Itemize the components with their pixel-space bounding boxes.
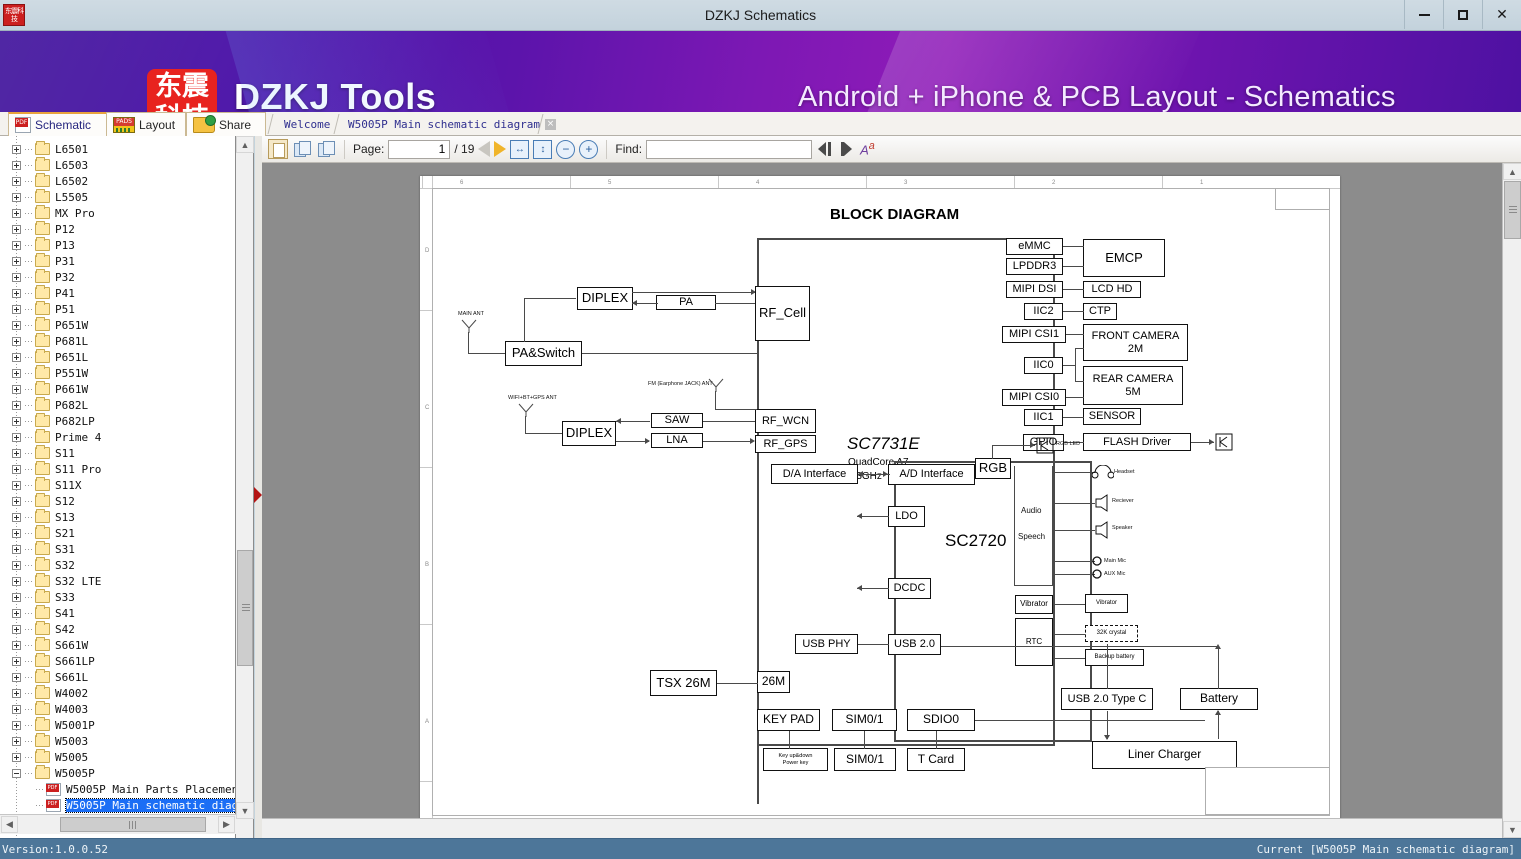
da-interface-block: D/A Interface [771, 464, 858, 484]
rgb-block: RGB [975, 458, 1011, 479]
emcp-block: EMCP [1083, 239, 1165, 277]
find-next-icon[interactable] [838, 141, 856, 157]
copy-selection-icon[interactable] [316, 139, 336, 159]
iic2-port-block: IIC2 [1024, 303, 1063, 320]
tree-connector [25, 677, 33, 678]
front-camera-block: FRONT CAMERA 2M [1083, 324, 1188, 361]
arrow-left-icon [632, 300, 637, 306]
close-icon: ✕ [1496, 6, 1508, 23]
expand-icon[interactable] [12, 289, 21, 298]
wire-usb-typec [1107, 644, 1108, 689]
previous-page-icon[interactable] [478, 141, 490, 157]
scroll-down-icon-2[interactable]: ▼ [1503, 821, 1521, 838]
tree-connector [25, 597, 33, 598]
main-antenna-icon [460, 319, 480, 333]
tree-item-label: P651W [55, 319, 88, 332]
tree-item-s32-lte[interactable]: S32 LTE [0, 573, 235, 589]
tree-connector [25, 741, 33, 742]
diplex-soc-wire [632, 292, 757, 293]
maximize-button[interactable] [1443, 0, 1482, 29]
clock-26m-block: 26M [757, 671, 790, 693]
zoom-out-icon[interactable]: − [556, 140, 575, 159]
application-window: 东震科技 DZKJ Schematics ✕ 东震科技 DZKJ Tools A… [0, 0, 1521, 859]
pdf-icon [15, 117, 31, 133]
expand-icon[interactable] [12, 513, 21, 522]
rf-wcn-block: RF_WCN [755, 409, 816, 433]
folder-icon [35, 495, 50, 507]
tree-item-s661l[interactable]: S661L [0, 669, 235, 685]
tree-item-label: Prime 4 [55, 431, 101, 444]
folder-icon [35, 191, 50, 203]
expand-icon[interactable] [12, 353, 21, 362]
expand-icon[interactable] [12, 465, 21, 474]
folder-icon [35, 607, 50, 619]
antenna-label-fm: FM (Earphone JACK) ANT [648, 381, 713, 387]
tree-item-label: P13 [55, 239, 75, 252]
expand-icon[interactable] [12, 673, 21, 682]
tree-item-p12[interactable]: P12 [0, 221, 235, 237]
expand-icon[interactable] [12, 577, 21, 586]
folder-icon [35, 207, 50, 219]
folder-icon [35, 351, 50, 363]
tree-item-l6503[interactable]: L6503 [0, 157, 235, 173]
tree-connector [25, 757, 33, 758]
tree-item-w5005p-main-parts-placement[interactable]: W5005P Main Parts Placement [0, 781, 235, 797]
tree-item-label: MX Pro [55, 207, 95, 220]
ctp-block: CTP [1083, 303, 1117, 320]
window-title: DZKJ Schematics [0, 0, 1521, 31]
receiver-label: Reciever [1112, 498, 1134, 504]
tree-item-label: P41 [55, 287, 75, 300]
wire-emmc [1063, 246, 1084, 247]
wire-backup-battery [1053, 658, 1087, 659]
tree-item-p41[interactable]: P41 [0, 285, 235, 301]
folder-icon [35, 383, 50, 395]
tree-item-p682lp[interactable]: P682LP [0, 413, 235, 429]
wire-tsx [717, 683, 758, 684]
tree-connector [25, 693, 33, 694]
expand-icon[interactable] [12, 481, 21, 490]
expand-icon[interactable] [12, 497, 21, 506]
tree-item-p681l[interactable]: P681L [0, 333, 235, 349]
tab-welcome[interactable]: Welcome [278, 112, 336, 136]
ldo-block: LDO [888, 506, 925, 527]
expand-icon[interactable] [12, 449, 21, 458]
expand-icon[interactable] [12, 209, 21, 218]
tree-item-l6502[interactable]: L6502 [0, 173, 235, 189]
fit-width-icon[interactable]: ↔ [510, 140, 529, 159]
tab-document-w5005p[interactable]: W5005P Main schematic diagram × [342, 112, 562, 136]
folder-icon [35, 703, 50, 715]
next-page-icon[interactable] [494, 141, 506, 157]
flash-led-icon [1215, 433, 1233, 451]
window-controls: ✕ [1404, 0, 1521, 29]
tree-item-label: W4002 [55, 687, 88, 700]
tree-item-label: W5005 [55, 751, 88, 764]
tree-connector [25, 581, 33, 582]
rgb-led-icon [1036, 437, 1054, 454]
tree-connector [25, 341, 33, 342]
tree-connector [36, 789, 44, 790]
iic0-port-block: IIC0 [1024, 357, 1063, 374]
tree-item-s11-pro[interactable]: S11 Pro [0, 461, 235, 477]
ant-wifi-wire [525, 433, 563, 434]
tree-item-p32[interactable]: P32 [0, 269, 235, 285]
tree-item-w5005p[interactable]: W5005P [0, 765, 235, 781]
tree-item-w5005p-main-schematic-diagram[interactable]: W5005P Main schematic diagram [0, 797, 235, 813]
folder-icon [35, 319, 50, 331]
block-diagram: BLOCK DIAGRAM SC7731E QuadCore A7 1.3GHz… [420, 176, 1340, 826]
tree-item-label: P651L [55, 351, 88, 364]
tree-item-label: W5005P [55, 767, 95, 780]
tree-item-s32[interactable]: S32 [0, 557, 235, 573]
toolbar-divider [344, 140, 345, 159]
find-input[interactable] [646, 140, 812, 159]
expand-icon[interactable] [12, 545, 21, 554]
tree-item-label: P31 [55, 255, 75, 268]
tree-connector [36, 805, 44, 806]
usb20-block: USB 2.0 [888, 634, 941, 655]
expand-icon[interactable] [12, 257, 21, 266]
sdio0-block: SDIO0 [907, 709, 975, 731]
close-button[interactable]: ✕ [1482, 0, 1521, 29]
tree-item-label: S32 LTE [55, 575, 101, 588]
tree-item-prime-4[interactable]: Prime 4 [0, 429, 235, 445]
expand-icon[interactable] [12, 385, 21, 394]
brand-subtitle: Android + iPhone & PCB Layout - Schemati… [798, 81, 1396, 112]
expand-icon[interactable] [12, 193, 21, 202]
share-icon [193, 117, 215, 133]
scroll-right-icon[interactable]: ▶ [218, 816, 235, 833]
tree-item-label: P51 [55, 303, 75, 316]
front-camera-sub: 2M [1128, 343, 1143, 355]
folder-icon [35, 559, 50, 571]
expand-icon[interactable] [12, 609, 21, 618]
page-number-input[interactable] [388, 140, 450, 159]
saw-block: SAW [651, 413, 703, 428]
tree-item-label: P682LP [55, 415, 95, 428]
tree-connector [25, 485, 33, 486]
ant-fm-wire [715, 409, 757, 410]
expand-icon[interactable] [12, 561, 21, 570]
tree-connector [25, 261, 33, 262]
expand-icon[interactable] [12, 753, 21, 762]
tree-item-label: L6501 [55, 143, 88, 156]
tab-schematic[interactable]: Schematic [8, 112, 113, 136]
tree-item-s11x[interactable]: S11X [0, 477, 235, 493]
folder-icon [35, 639, 50, 651]
viewer-scroll-thumb[interactable] [1504, 181, 1521, 239]
tab-share[interactable]: Share [186, 112, 266, 136]
tree-item-s11[interactable]: S11 [0, 445, 235, 461]
tree-item-label: W4003 [55, 703, 88, 716]
saw-soc-wire [703, 421, 757, 422]
pads-icon [113, 117, 135, 133]
tab-schematic-label: Schematic [35, 118, 91, 132]
ant-wifi-drop [525, 416, 526, 434]
tree-item-l5505[interactable]: L5505 [0, 189, 235, 205]
maximize-icon [1458, 10, 1468, 20]
tree-item-label: L6502 [55, 175, 88, 188]
expand-icon[interactable] [12, 369, 21, 378]
expand-icon[interactable] [12, 161, 21, 170]
tree-connector [25, 213, 33, 214]
tree-horizontal-scrollbar[interactable]: ◀ ▶ [0, 814, 236, 834]
expand-icon[interactable] [12, 689, 21, 698]
wire-rgb-up [992, 445, 993, 459]
tree-item-label: S21 [55, 527, 75, 540]
scroll-down-icon[interactable]: ▼ [236, 802, 254, 819]
scroll-up-icon[interactable]: ▲ [236, 136, 254, 153]
folder-icon [35, 415, 50, 427]
find-label: Find: [615, 142, 642, 156]
close-icon[interactable]: × [545, 119, 556, 130]
find-previous-icon[interactable] [816, 141, 834, 157]
wire-speaker [1053, 530, 1095, 531]
wire-iic2 [1063, 311, 1084, 312]
tree-hscroll-thumb[interactable] [60, 817, 206, 832]
tree-item-w4003[interactable]: W4003 [0, 701, 235, 717]
expand-icon[interactable] [12, 417, 21, 426]
saw-diplex-wire [616, 421, 650, 422]
wire-csi0 [1066, 397, 1084, 398]
expand-icon[interactable] [12, 177, 21, 186]
tree-item-s41[interactable]: S41 [0, 605, 235, 621]
tree-connector [25, 357, 33, 358]
tree-connector [25, 453, 33, 454]
folder-icon [35, 575, 50, 587]
tree-item-s21[interactable]: S21 [0, 525, 235, 541]
tree-connector [25, 645, 33, 646]
document-icon[interactable] [268, 139, 288, 159]
expand-icon[interactable] [12, 529, 21, 538]
wire-iic0-down [1075, 381, 1084, 382]
folder-icon [35, 751, 50, 763]
collapse-icon[interactable] [12, 769, 21, 778]
tree-vertical-scrollbar[interactable]: ▲ ▼ [236, 136, 254, 838]
antenna-label-main: MAIN ANT [458, 311, 484, 317]
tree-connector [25, 613, 33, 614]
expand-icon[interactable] [12, 305, 21, 314]
arrow-right-icon-6 [1030, 442, 1035, 448]
tree-item-label: S42 [55, 623, 75, 636]
headset-label: Headset [1114, 469, 1135, 475]
rf-cell-block: RF_Cell [755, 286, 810, 341]
folder-icon [35, 175, 50, 187]
wire-dsi [1063, 289, 1084, 290]
antenna-label-wifi: WIFI+BT+GPS ANT [508, 395, 557, 401]
tree-item-label: W5005P Main schematic diagram [66, 799, 236, 812]
tree-item-w5001p[interactable]: W5001P [0, 717, 235, 733]
ant-main-drop [468, 332, 469, 354]
pdf-file-icon [46, 799, 61, 812]
tree-item-p682l[interactable]: P682L [0, 397, 235, 413]
tree-item-w5003[interactable]: W5003 [0, 733, 235, 749]
wire-keypad [789, 731, 790, 749]
tree-connector [25, 293, 33, 294]
wire-iic0-bus [1075, 348, 1076, 382]
expand-icon[interactable] [12, 737, 21, 746]
expand-icon[interactable] [12, 641, 21, 650]
tree-connector [25, 405, 33, 406]
expand-icon[interactable] [12, 273, 21, 282]
speaker-label: Speaker [1112, 525, 1133, 531]
lcd-hd-block: LCD HD [1083, 281, 1141, 298]
tree-scroll-thumb[interactable] [237, 550, 253, 666]
tree-connector [25, 709, 33, 710]
brand-title: DZKJ Tools [234, 76, 436, 112]
title-bar: 东震科技 DZKJ Schematics ✕ [0, 0, 1521, 31]
tab-share-label: Share [219, 118, 251, 132]
tree-item-s42[interactable]: S42 [0, 621, 235, 637]
tree-item-label: S11X [55, 479, 82, 492]
pa-switch-up-wire [524, 298, 525, 342]
pa-switch-block: PA&Switch [505, 341, 582, 366]
tree-item-s31[interactable]: S31 [0, 541, 235, 557]
folder-icon [35, 591, 50, 603]
liner-charger-block: Liner Charger [1092, 741, 1237, 769]
expand-icon[interactable] [12, 625, 21, 634]
rtc-block: RTC [1015, 618, 1053, 666]
tree-item-p13[interactable]: P13 [0, 237, 235, 253]
folder-icon [35, 399, 50, 411]
battery-block: Battery [1180, 688, 1258, 710]
wire-crystal [1053, 634, 1087, 635]
wire-usb20-bus [941, 646, 1219, 647]
tree-item-label: S32 [55, 559, 75, 572]
aux-mic-icon [1092, 569, 1102, 579]
pa-switch-to-diplex [524, 298, 576, 299]
tree-connector [25, 421, 33, 422]
rear-camera-label: REAR CAMERA [1093, 373, 1174, 385]
expand-icon[interactable] [12, 721, 21, 730]
tree-item-p651w[interactable]: P651W [0, 317, 235, 333]
schematic-tree[interactable]: L6501L6503L6502L5505MX ProP12P13P31P32P4… [0, 136, 236, 838]
expand-icon[interactable] [12, 593, 21, 602]
wire-rgb-led [992, 445, 1035, 446]
tree-connector [25, 661, 33, 662]
audio-col-left [1014, 466, 1015, 586]
tree-item-label: P32 [55, 271, 75, 284]
folder-icon [35, 287, 50, 299]
fit-page-icon[interactable]: ↕ [533, 140, 552, 159]
tree-item-label: L6503 [55, 159, 88, 172]
tree-item-p551w[interactable]: P551W [0, 365, 235, 381]
tree-item-s33[interactable]: S33 [0, 589, 235, 605]
tree-item-l6501[interactable]: L6501 [0, 141, 235, 157]
expand-icon[interactable] [12, 241, 21, 250]
wire-iic1 [1063, 417, 1084, 418]
tree-item-label: P681L [55, 335, 88, 348]
expand-icon[interactable] [12, 657, 21, 666]
tree-connector [25, 517, 33, 518]
lpddr3-port-block: LPDDR3 [1006, 258, 1063, 275]
tree-item-w5005[interactable]: W5005 [0, 749, 235, 765]
expand-icon[interactable] [12, 321, 21, 330]
copy-page-icon[interactable] [292, 139, 312, 159]
backup-battery-block: Backup battery [1085, 649, 1144, 666]
tree-item-p651l[interactable]: P651L [0, 349, 235, 365]
tree-item-p31[interactable]: P31 [0, 253, 235, 269]
lna-block: LNA [651, 433, 703, 448]
tree-item-s661w[interactable]: S661W [0, 637, 235, 653]
tab-strip: Schematic Layout Share Welcome W5005P Ma… [0, 112, 1521, 136]
tree-item-p661w[interactable]: P661W [0, 381, 235, 397]
sim-port-block: SIM0/1 [832, 709, 897, 731]
pdf-toolbar: Page: / 19 ↔ ↕ − + Find: Aa [262, 136, 1521, 163]
tree-connector [25, 373, 33, 374]
pdf-viewer[interactable]: 654321 DCBA BLOCK DIAGRAM SC7731E QuadCo… [262, 163, 1502, 838]
highlight-all-icon[interactable]: Aa [860, 140, 875, 157]
expand-icon[interactable] [12, 401, 21, 410]
scroll-up-icon-2[interactable]: ▲ [1503, 163, 1521, 180]
expand-icon[interactable] [12, 225, 21, 234]
folder-icon [35, 767, 50, 779]
pmic-bottom-edge [894, 740, 1092, 742]
tree-item-p51[interactable]: P51 [0, 301, 235, 317]
expand-icon[interactable] [12, 705, 21, 714]
receiver-speaker-icon [1093, 494, 1111, 512]
pa-switch-soc-wire [582, 353, 757, 354]
tree-item-label: S13 [55, 511, 75, 524]
folder-icon [35, 447, 50, 459]
wire-battery-charger [1218, 711, 1219, 739]
expand-icon[interactable] [12, 145, 21, 154]
arrow-left-icon-5 [857, 585, 862, 591]
tab-welcome-label: Welcome [284, 118, 330, 131]
tree-item-w4002[interactable]: W4002 [0, 685, 235, 701]
minimize-button[interactable] [1404, 0, 1443, 29]
usb-phy-block: USB PHY [795, 634, 858, 654]
minimize-icon [1419, 14, 1430, 16]
arrow-up-icon [1215, 710, 1221, 715]
pa-soc-wire [715, 303, 757, 304]
tree-connector [25, 565, 33, 566]
grip-icon [242, 604, 250, 612]
tree-connector [25, 549, 33, 550]
viewer-horizontal-scrollbar[interactable] [262, 818, 1502, 838]
tree-item-s13[interactable]: S13 [0, 509, 235, 525]
rear-camera-block: REAR CAMERA 5M [1083, 366, 1183, 405]
expand-icon[interactable] [12, 433, 21, 442]
zoom-in-icon[interactable]: + [579, 140, 598, 159]
sim-device-block: SIM0/1 [834, 748, 896, 771]
iic1-port-block: IIC1 [1024, 409, 1063, 426]
wifi-antenna-icon [517, 403, 537, 417]
rgb-led-label: RGB LED [1056, 441, 1080, 447]
tree-item-label: S41 [55, 607, 75, 620]
folder-icon [35, 239, 50, 251]
dcdc-block: DCDC [888, 578, 931, 599]
viewer-vertical-scrollbar[interactable]: ▲ ▼ [1502, 163, 1521, 838]
tree-item-label: S12 [55, 495, 75, 508]
mipi-csi0-port-block: MIPI CSI0 [1002, 389, 1066, 406]
pa-block: PA [656, 295, 716, 310]
folder-icon [35, 479, 50, 491]
expand-icon[interactable] [12, 337, 21, 346]
scroll-left-icon[interactable]: ◀ [1, 816, 18, 833]
tree-item-s661lp[interactable]: S661LP [0, 653, 235, 669]
vibrator-pmic-block: Vibrator [1015, 595, 1053, 614]
wire-iic0-up [1075, 348, 1084, 349]
front-camera-label: FRONT CAMERA [1092, 330, 1180, 342]
current-document-label: Current [W5005P Main schematic diagram] [1257, 843, 1515, 856]
tree-item-s12[interactable]: S12 [0, 493, 235, 509]
tab-layout[interactable]: Layout [106, 112, 186, 136]
folder-icon [35, 735, 50, 747]
folder-icon [35, 271, 50, 283]
tree-item-mx-pro[interactable]: MX Pro [0, 205, 235, 221]
